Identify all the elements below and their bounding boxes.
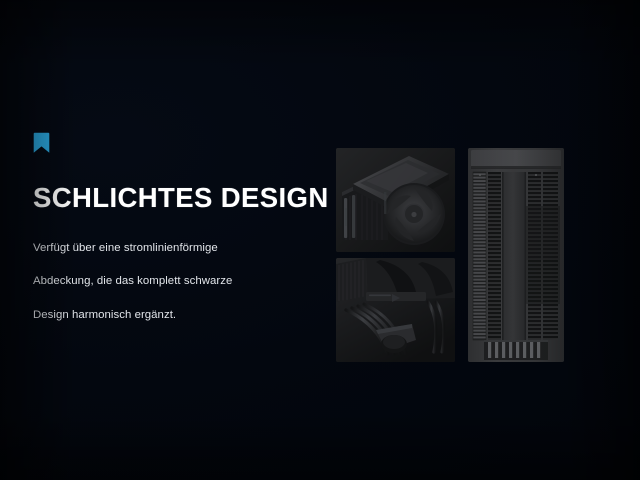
product-image-gallery: [336, 148, 564, 362]
cpu-cooler-heatpipes-photo[interactable]: [336, 258, 455, 362]
product-slide: SCHLICHTES DESIGN Verfügt über eine stro…: [0, 0, 640, 480]
description-line: Design harmonisch ergänzt.: [33, 310, 323, 321]
text-column: SCHLICHTES DESIGN Verfügt über eine stro…: [33, 132, 323, 321]
description-line: Verfügt über eine stromlinienförmige: [33, 243, 323, 254]
cpu-cooler-front-fin-stack-photo[interactable]: [468, 148, 564, 362]
bookmark-icon: [33, 132, 50, 154]
description-line: Abdeckung, die das komplett schwarze: [33, 276, 323, 287]
page-title: SCHLICHTES DESIGN: [33, 184, 323, 213]
description-paragraph: Verfügt über eine stromlinienförmige Abd…: [33, 243, 323, 321]
cpu-cooler-top-angle-photo[interactable]: [336, 148, 455, 252]
